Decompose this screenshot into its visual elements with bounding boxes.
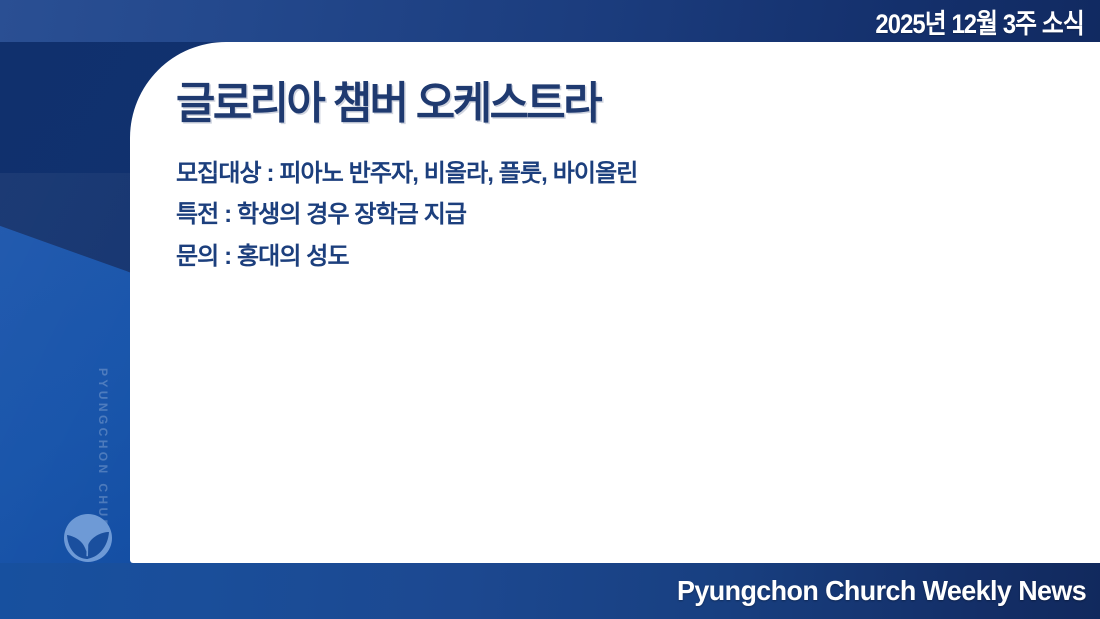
weekly-news-slide: 2025년 12월 3주 소식 글로리아 챔버 오케스트라 모집대상 : 피아노… xyxy=(0,0,1100,619)
page-title: 글로리아 챔버 오케스트라 xyxy=(176,76,1033,131)
church-flower-logo-icon xyxy=(62,512,114,564)
header-band: 2025년 12월 3주 소식 xyxy=(0,0,1100,42)
details-line: 문의 : 홍대의 성도 xyxy=(176,236,1060,277)
details-line: 특전 : 학생의 경우 장학금 지급 xyxy=(176,194,1060,235)
footer-band: Pyungchon Church Weekly News xyxy=(0,563,1100,619)
details-list: 모집대상 : 피아노 반주자, 비올라, 플룻, 바이올린 특전 : 학생의 경… xyxy=(176,153,1060,277)
issue-date-label: 2025년 12월 3주 소식 xyxy=(876,2,1084,41)
footer-brand-label: Pyungchon Church Weekly News xyxy=(677,575,1086,607)
content-card: 글로리아 챔버 오케스트라 모집대상 : 피아노 반주자, 비올라, 플룻, 바… xyxy=(130,42,1100,563)
details-line: 모집대상 : 피아노 반주자, 비올라, 플룻, 바이올린 xyxy=(176,153,1060,194)
